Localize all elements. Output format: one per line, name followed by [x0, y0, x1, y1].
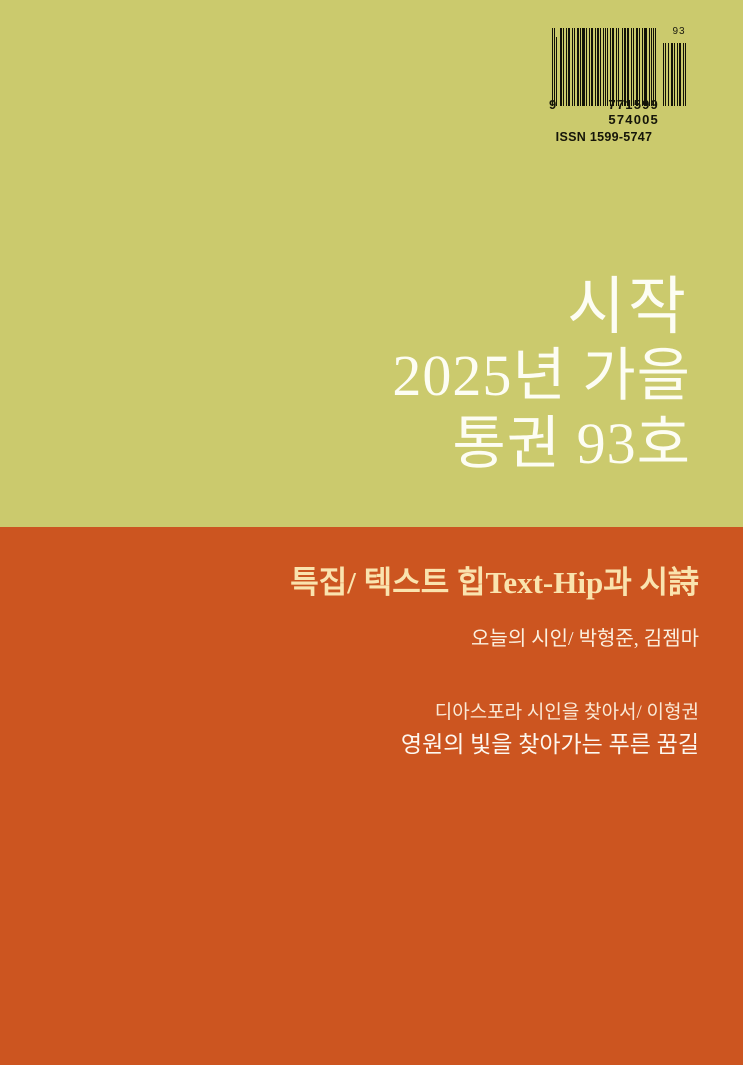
supplement-label: 93: [663, 26, 695, 38]
feature-block: 특집/ 텍스트 힙Text-Hip과 시詩 오늘의 시인/ 박형준, 김젬마: [39, 563, 699, 653]
barcode-digits: 9 771599 574005: [547, 97, 695, 127]
issue-season: 2025년 가을: [53, 342, 693, 410]
barcode-lead-digit: 9: [547, 97, 557, 112]
feature-headline: 특집/ 텍스트 힙Text-Hip과 시詩: [39, 563, 699, 603]
barcode-digit-string: 771599 574005: [608, 97, 659, 127]
today-poet-line: 오늘의 시인/ 박형준, 김젬마: [39, 625, 699, 653]
issn-text: ISSN 1599-5747: [547, 130, 695, 144]
ean13-barcode-icon: [552, 28, 659, 106]
diaspora-title: 영원의 빛을 찾아가는 푸른 꿈길: [39, 729, 699, 760]
barcode-row: 93: [547, 28, 695, 106]
magazine-title: 시작: [53, 272, 693, 342]
barcode-block: 93 9 771599 574005 ISSN 1599-5747: [547, 28, 695, 144]
magazine-cover: 93 9 771599 574005 ISSN 1599-5747 시작 202…: [0, 0, 743, 1065]
diaspora-kicker: 디아스포라 시인을 찾아서/ 이형권: [39, 699, 699, 726]
issue-number: 통권 93호: [53, 410, 693, 478]
barcode-supplement: 93: [663, 28, 695, 106]
diaspora-block: 디아스포라 시인을 찾아서/ 이형권 영원의 빛을 찾아가는 푸른 꿈길: [39, 699, 699, 760]
masthead: 시작 2025년 가을 통권 93호: [53, 272, 693, 478]
